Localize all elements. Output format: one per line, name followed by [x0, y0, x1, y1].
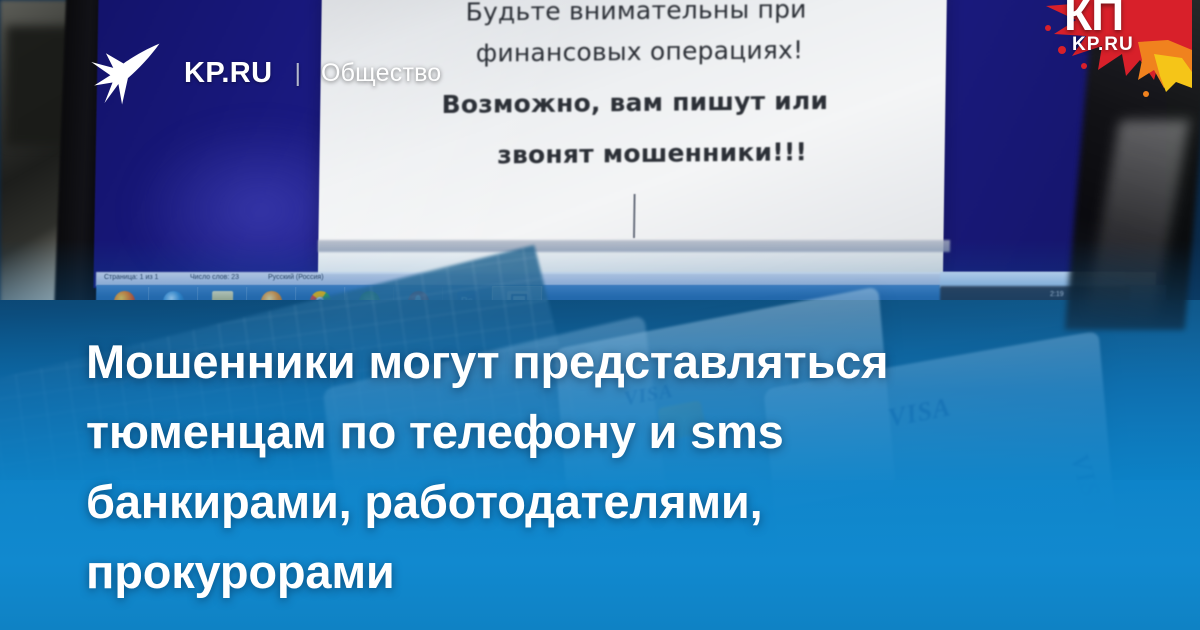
headline-line-2: тюменцам по телефону и sms: [86, 397, 1106, 467]
brand-label[interactable]: KP.RU: [184, 57, 273, 90]
page-title: Мошенники могут представляться тюменцам …: [86, 327, 1106, 607]
brand-header: KP.RU | Общество: [88, 40, 441, 106]
rubric-label[interactable]: Общество: [321, 59, 441, 88]
watermark-mark: КП: [1064, 0, 1123, 34]
header-separator: |: [295, 59, 302, 88]
headline-line-1: Мошенники могут представляться: [86, 327, 1106, 397]
kp-watermark: КП KP.RU: [1042, 0, 1192, 106]
watermark-url: KP.RU: [1072, 34, 1134, 56]
kp-article-social-card: Будьте внимательны при финансовых операц…: [0, 0, 1200, 630]
headline-line-3: банкирами, работодателями,: [86, 467, 1106, 537]
kp-swallow-bird-logo-icon[interactable]: [88, 40, 162, 106]
headline-line-4: прокурорами: [86, 537, 1106, 607]
